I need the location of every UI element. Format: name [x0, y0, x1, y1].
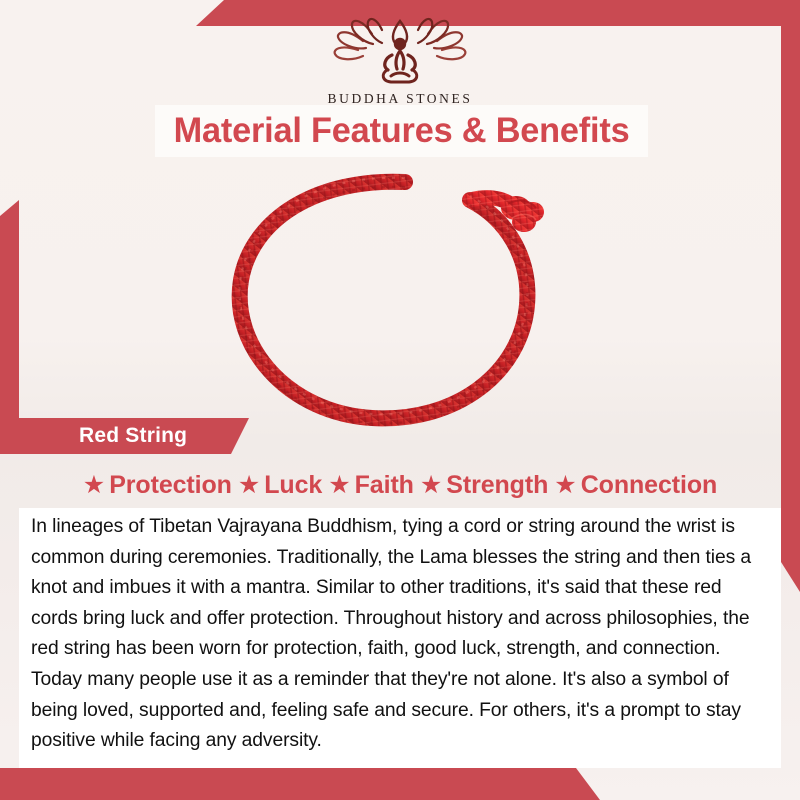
benefit-label: Protection	[109, 471, 232, 500]
title-banner: Material Features & Benefits	[155, 105, 648, 157]
benefit-label: Strength	[446, 471, 548, 500]
infographic-poster: BUDDHA STONES Material Features & Benefi…	[0, 0, 800, 800]
benefit-item: ★ Luck	[238, 471, 322, 500]
benefit-item: ★ Strength	[420, 471, 548, 500]
lotus-meditation-logo-icon	[0, 14, 800, 89]
star-icon: ★	[554, 473, 576, 498]
benefit-item: ★ Faith	[328, 471, 414, 500]
star-icon: ★	[420, 473, 442, 498]
page-title: Material Features & Benefits	[174, 111, 630, 151]
decorative-bottom-bar	[0, 768, 600, 800]
star-icon: ★	[238, 473, 260, 498]
product-label-banner: Red String	[19, 418, 249, 454]
benefit-label: Faith	[355, 471, 414, 500]
benefit-label: Luck	[264, 471, 322, 500]
description-card: In lineages of Tibetan Vajrayana Buddhis…	[19, 508, 781, 768]
benefits-row: ★ Protection ★ Luck ★ Faith ★ Strength ★…	[19, 462, 781, 508]
star-icon: ★	[328, 473, 350, 498]
product-image	[0, 160, 800, 440]
benefit-item: ★ Protection	[83, 471, 232, 500]
description-text: In lineages of Tibetan Vajrayana Buddhis…	[19, 508, 781, 757]
star-icon: ★	[83, 473, 105, 498]
product-label: Red String	[19, 424, 187, 448]
benefit-item: ★ Connection	[554, 471, 717, 500]
brand-block: BUDDHA STONES	[0, 14, 800, 107]
benefit-label: Connection	[581, 471, 718, 500]
